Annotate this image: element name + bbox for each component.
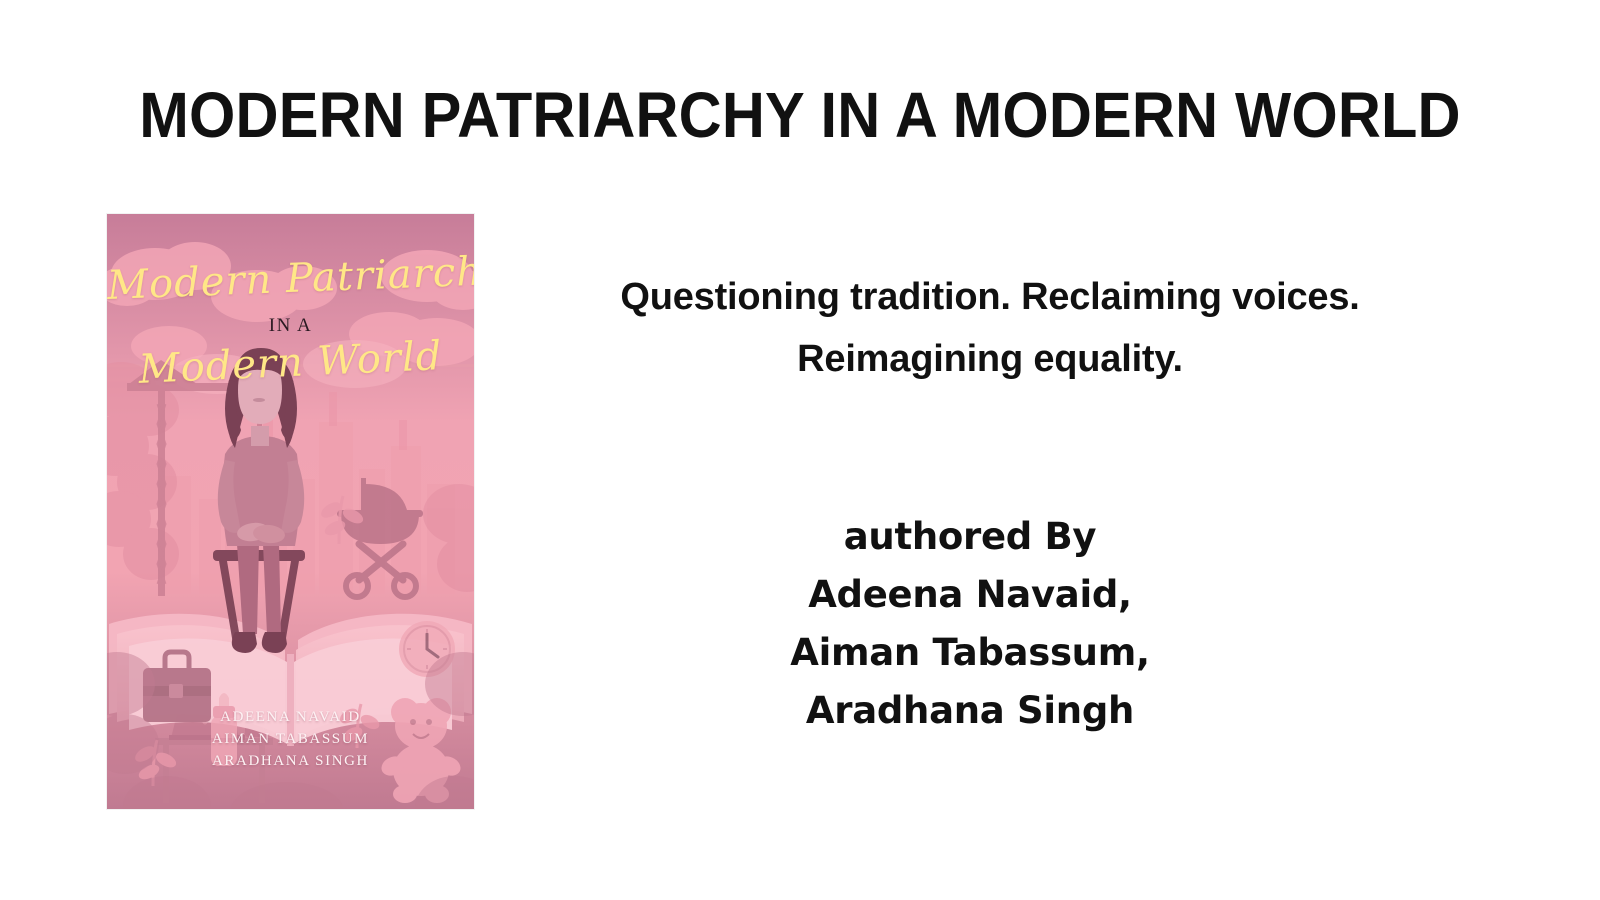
byline: authored By Adeena Navaid, Aiman Tabassu… — [560, 508, 1380, 740]
book-cover-image: Modern Patriarchy IN A Modern World ADEE… — [107, 214, 474, 809]
byline-label: authored By — [560, 508, 1380, 566]
book-cover-artwork: Modern Patriarchy IN A Modern World ADEE… — [107, 214, 474, 809]
cover-author-2: AIMAN TABASSUM — [107, 728, 474, 750]
cover-author-3: ARADHANA SINGH — [107, 750, 474, 772]
byline-author-1: Adeena Navaid, — [560, 566, 1380, 624]
byline-author-2: Aiman Tabassum, — [560, 624, 1380, 682]
cover-author-list: ADEENA NAVAID AIMAN TABASSUM ARADHANA SI… — [107, 706, 474, 772]
tagline-line-2: Reimagining equality. — [520, 328, 1460, 390]
presentation-slide: MODERN PATRIARCHY IN A MODERN WORLD — [0, 0, 1600, 900]
cover-author-1: ADEENA NAVAID — [107, 706, 474, 728]
tagline: Questioning tradition. Reclaiming voices… — [520, 266, 1460, 390]
byline-author-3: Aradhana Singh — [560, 682, 1380, 740]
page-title: MODERN PATRIARCHY IN A MODERN WORLD — [56, 82, 1544, 149]
tagline-line-1: Questioning tradition. Reclaiming voices… — [520, 266, 1460, 328]
